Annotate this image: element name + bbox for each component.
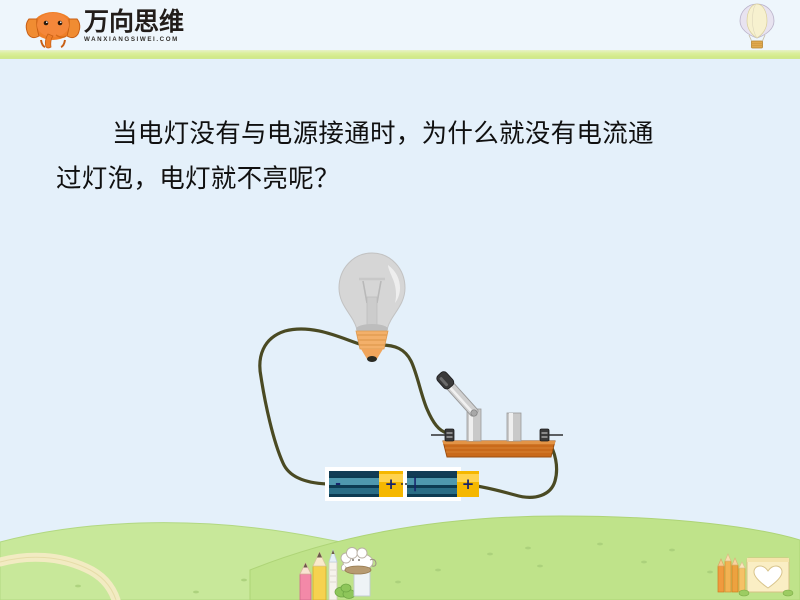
battery-cell: + - xyxy=(329,471,403,497)
open-circuit-diagram: + - + | xyxy=(255,245,585,535)
svg-text:+: + xyxy=(462,475,475,493)
svg-text:-: - xyxy=(335,476,341,492)
svg-text:|: | xyxy=(412,476,417,492)
battery-pack: + - + | xyxy=(325,467,479,501)
logo-brand-cn: 万向思维 xyxy=(84,8,194,35)
battery-cell: + | xyxy=(407,471,479,497)
svg-text:+: + xyxy=(385,475,398,493)
heart-card xyxy=(747,558,789,592)
logo-brand-en: WANXIANGSIWEI.COM xyxy=(84,36,194,43)
heart-card-icon xyxy=(714,548,796,600)
question-text: 当电灯没有与电源接通时，为什么就没有电流通 过灯泡，电灯就不亮呢？ xyxy=(56,112,736,202)
brand-logo[interactable]: 万向思维 WANXIANGSIWEI.COM xyxy=(22,6,192,48)
sheep-icon xyxy=(341,548,376,575)
elephant-icon xyxy=(22,9,84,49)
hot-air-balloon-icon xyxy=(735,2,779,50)
crayons-icon xyxy=(718,554,745,592)
question-line-1: 当电灯没有与电源接通时，为什么就没有电流通 xyxy=(56,112,736,157)
slide-canvas: 万向思维 WANXIANGSIWEI.COM 当电灯没有与电源接通时，为什么就没… xyxy=(0,0,800,600)
pencil-tower-pink xyxy=(300,563,311,600)
ground-scenery xyxy=(0,510,800,600)
header-divider-rule xyxy=(0,50,800,59)
bush xyxy=(335,584,355,599)
pencil-towers-icon xyxy=(296,544,382,600)
knife-switch[interactable] xyxy=(431,370,563,457)
question-line-2: 过灯泡，电灯就不亮呢？ xyxy=(56,157,736,202)
logo-text-block: 万向思维 WANXIANGSIWEI.COM xyxy=(84,8,194,43)
pencil-tower-yellow xyxy=(313,552,326,600)
